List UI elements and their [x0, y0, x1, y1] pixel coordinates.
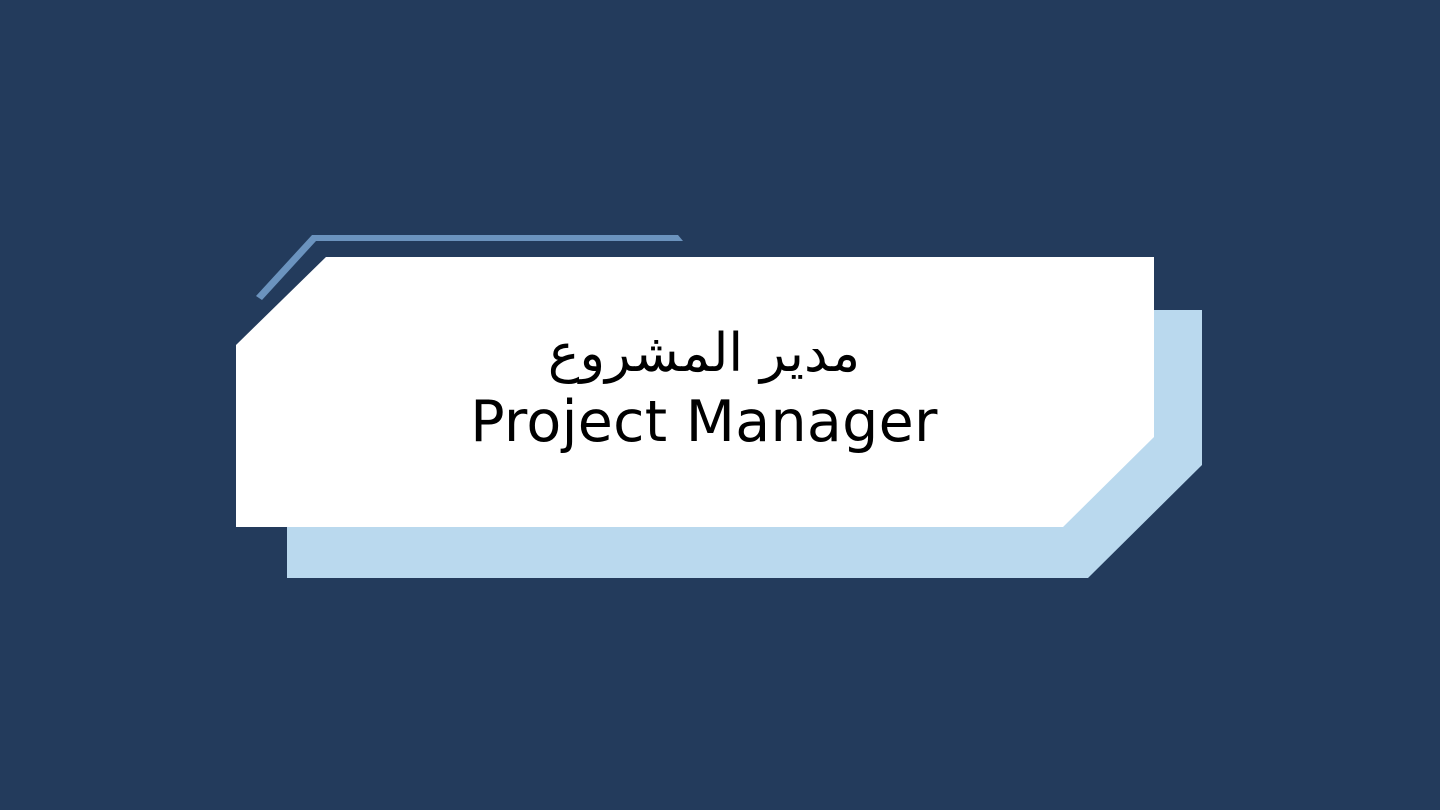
slide-canvas: مدير المشروع Project Manager	[0, 0, 1440, 810]
corner-accent-line-shape	[256, 235, 683, 300]
corner-accent-line	[246, 225, 691, 310]
